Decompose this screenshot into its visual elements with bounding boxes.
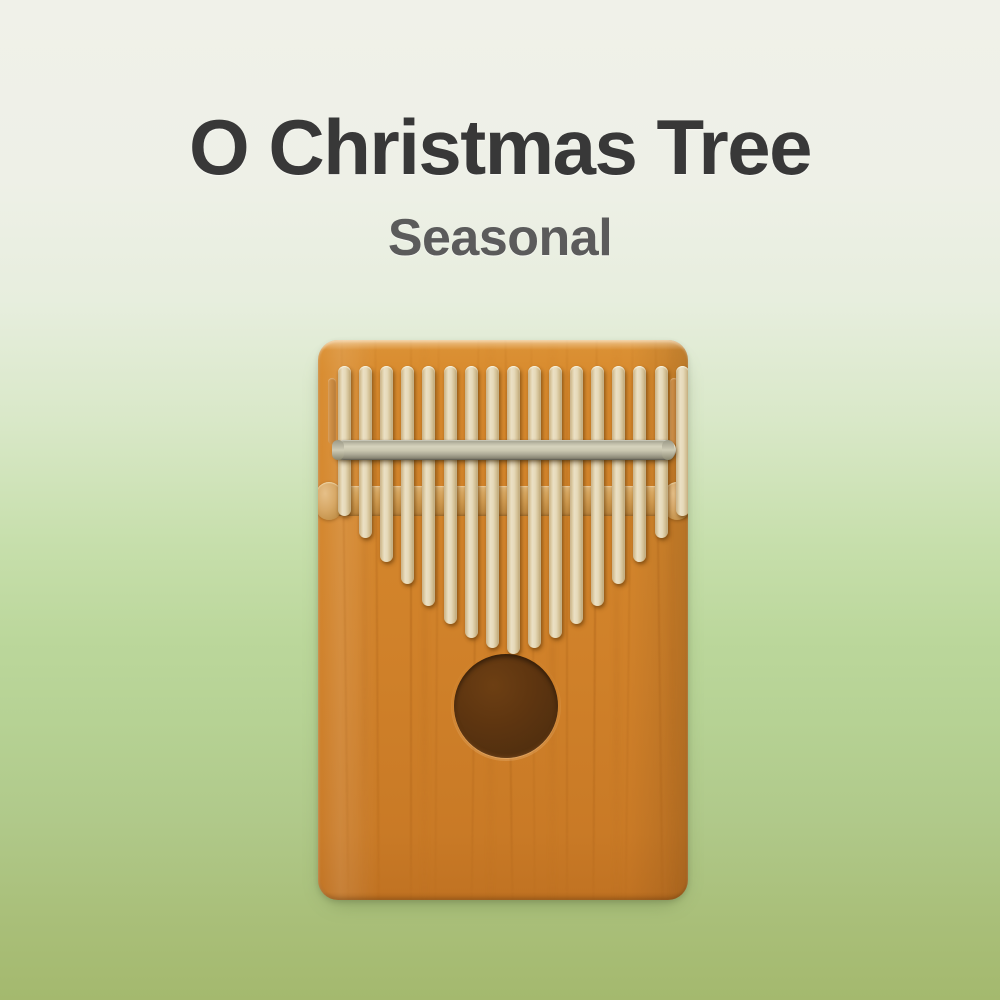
kalimba-tine-17[interactable]: [676, 366, 688, 516]
kalimba-tine-10[interactable]: [528, 366, 541, 648]
kalimba-tine-5[interactable]: [422, 366, 435, 606]
kalimba-tine-14[interactable]: [612, 366, 625, 584]
kalimba-tine-6[interactable]: [444, 366, 457, 624]
kalimba-tine-12[interactable]: [570, 366, 583, 624]
kalimba-tine-13[interactable]: [591, 366, 604, 606]
sound-hole: [454, 654, 558, 758]
metal-bar-cap-right: [662, 440, 674, 460]
page-subtitle: Seasonal: [0, 212, 1000, 264]
page-title: O Christmas Tree: [0, 108, 1000, 186]
kalimba-tine-8[interactable]: [486, 366, 499, 648]
kalimba-tine-15[interactable]: [633, 366, 646, 562]
kalimba-tines-group[interactable]: [318, 340, 688, 900]
image-canvas: O Christmas Tree Seasonal: [0, 0, 1000, 1000]
kalimba-tine-3[interactable]: [380, 366, 393, 562]
kalimba-wooden-body: [318, 340, 688, 900]
metal-bridge-bar: [334, 440, 676, 460]
kalimba-tine-7[interactable]: [465, 366, 478, 638]
kalimba-tine-4[interactable]: [401, 366, 414, 584]
kalimba-tine-9[interactable]: [507, 366, 520, 654]
title-block: O Christmas Tree Seasonal: [0, 108, 1000, 264]
kalimba-tine-11[interactable]: [549, 366, 562, 638]
kalimba-instrument: [318, 340, 688, 900]
metal-bar-cap-left: [332, 440, 344, 460]
